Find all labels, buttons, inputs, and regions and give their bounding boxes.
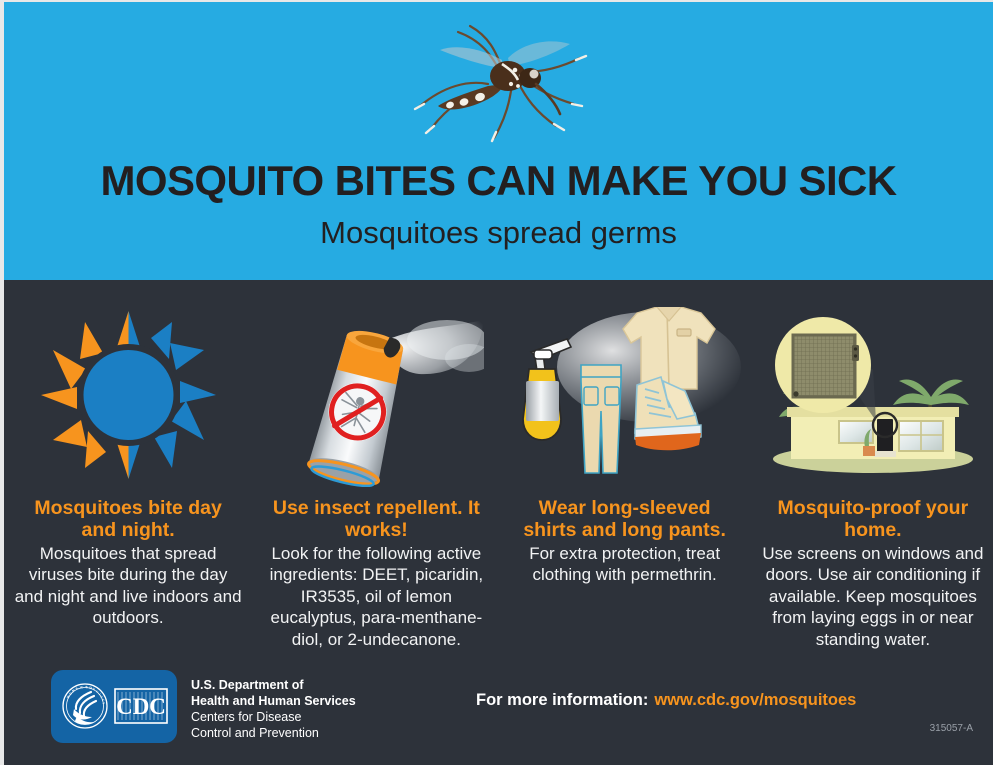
poster-footer: H U M A N S E R V I C E S D E <box>4 660 993 765</box>
tip-body: Mosquitoes that spread viruses bite duri… <box>12 543 244 629</box>
tip-body: Use screens on windows and doors. Use ai… <box>757 543 989 650</box>
aedes-mosquito-icon <box>384 14 614 154</box>
publication-number: 315057-A <box>930 723 973 734</box>
agency-line-1: U.S. Department of <box>191 677 356 693</box>
tips-columns: Mosquitoes bite day and night. Mosquitoe… <box>4 292 993 662</box>
hhs-seal-icon: H U M A N S E R V I C E S D E <box>61 676 109 736</box>
tip-art-slot <box>757 292 989 497</box>
sun-moon-icon <box>41 311 216 479</box>
tip-heading: Use insect repellent. It works! <box>260 497 492 541</box>
agency-line-4: Control and Prevention <box>191 725 356 741</box>
tip-art-slot <box>509 292 741 497</box>
page-title: MOSQUITO BITES CAN MAKE YOU SICK <box>4 160 993 202</box>
svg-text:S: S <box>102 702 106 705</box>
tip-heading: Mosquitoes bite day and night. <box>12 497 244 541</box>
tip-art-slot <box>260 292 492 497</box>
cdc-hhs-logo[interactable]: H U M A N S E R V I C E S D E <box>51 670 356 743</box>
svg-text:CDC: CDC <box>116 694 166 719</box>
svg-text:U: U <box>81 685 84 689</box>
more-info-label: For more information: <box>476 691 648 709</box>
tip-column-mosquito-proof-home: Mosquito-proof your home. Use screens on… <box>749 292 993 662</box>
more-information: For more information:www.cdc.gov/mosquit… <box>476 691 856 710</box>
poster-header: MOSQUITO BITES CAN MAKE YOU SICK Mosquit… <box>4 2 993 280</box>
agency-name: U.S. Department of Health and Human Serv… <box>191 670 356 741</box>
window-screen-magnifier <box>775 317 871 413</box>
cdc-logo-icon: CDC <box>114 688 168 724</box>
logo-badge: H U M A N S E R V I C E S D E <box>51 670 177 743</box>
page-subtitle: Mosquitoes spread germs <box>4 217 993 248</box>
screened-house-icon <box>773 307 973 482</box>
svg-text:S: S <box>86 685 89 689</box>
tip-column-bite-day-and-night: Mosquitoes bite day and night. Mosquitoe… <box>4 292 252 662</box>
tip-column-wear-long-sleeves: Wear long-sleeved shirts and long pants.… <box>501 292 749 662</box>
tip-body: For extra protection, treat clothing wit… <box>509 543 741 586</box>
tip-body: Look for the following active ingredient… <box>260 543 492 650</box>
tip-art-slot <box>12 292 244 497</box>
cdc-website-link[interactable]: www.cdc.gov/mosquitoes <box>654 691 856 709</box>
cdc-mosquito-poster: MOSQUITO BITES CAN MAKE YOU SICK Mosquit… <box>0 0 993 765</box>
tip-column-use-insect-repellent: Use insect repellent. It works! Look for… <box>252 292 500 662</box>
tip-heading: Wear long-sleeved shirts and long pants. <box>509 497 741 541</box>
long-sleeved-clothing-icon <box>509 307 741 482</box>
long-pants <box>581 365 621 473</box>
agency-line-2: Health and Human Services <box>191 693 356 709</box>
tip-heading: Mosquito-proof your home. <box>757 497 989 541</box>
agency-line-3: Centers for Disease <box>191 709 356 725</box>
insect-repellent-spray-can-icon <box>269 302 484 487</box>
